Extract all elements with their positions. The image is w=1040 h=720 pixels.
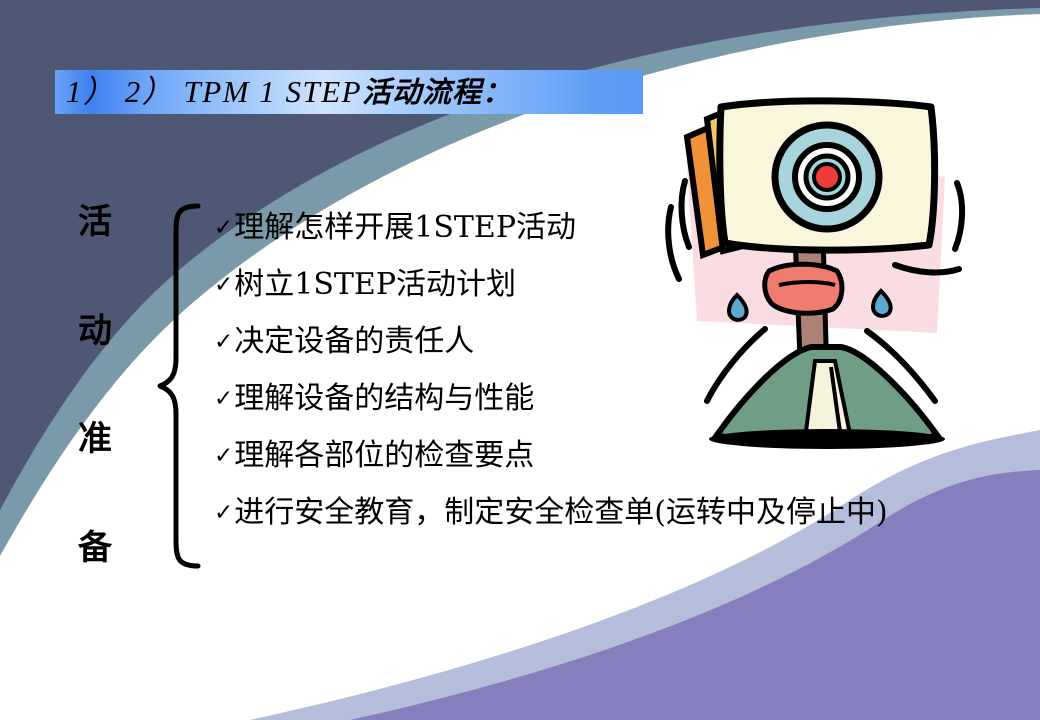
ground-shadow [709, 429, 945, 449]
section-label-vertical: 活 动 准 备 [58, 205, 132, 565]
presentation-slide: 1） 2） TPM 1 STEP活动流程： 活 动 准 备 ✓ 理解怎样开展1S… [0, 0, 1040, 720]
checkmark-icon: ✓ [214, 322, 233, 362]
slide-title: 1） 2） TPM 1 STEP活动流程： [66, 68, 666, 116]
section-label-char-2: 动 [78, 314, 112, 348]
target-bullseye [814, 164, 840, 190]
title-cjk-part: 活动流程： [362, 75, 512, 109]
section-label-char-1: 活 [78, 205, 112, 239]
checkmark-icon: ✓ [214, 493, 233, 533]
section-label-char-3: 准 [78, 422, 112, 456]
list-item-label: 理解设备的结构与性能 [234, 379, 534, 419]
motion-mark-left-1 [682, 181, 689, 247]
title-latin-part: 1） 2） [66, 74, 184, 109]
section-label-char-4: 备 [78, 531, 112, 565]
brace-path [160, 206, 198, 566]
list-item: ✓ 进行安全教育，制定安全检查单(运转中及停止中) [214, 493, 914, 533]
list-item-label: 进行安全教育，制定安全检查单(运转中及停止中) [234, 493, 894, 533]
motion-mark-right-1 [955, 183, 962, 249]
checkmark-icon: ✓ [214, 265, 233, 305]
person-hand [765, 264, 842, 313]
checkmark-icon: ✓ [214, 208, 233, 248]
checkmark-icon: ✓ [214, 379, 233, 419]
list-item-label: 树立1STEP活动计划 [234, 265, 516, 305]
title-tpm-part: TPM 1 STEP [184, 74, 363, 109]
curly-brace [152, 200, 212, 572]
checkmark-icon: ✓ [214, 436, 233, 476]
list-item-label: 决定设备的责任人 [234, 322, 474, 362]
list-item-label: 理解各部位的检查要点 [234, 436, 534, 476]
list-item-label: 理解怎样开展1STEP活动 [234, 208, 576, 248]
motion-mark-left-2 [668, 207, 679, 279]
person-holding-target-sign-illustration [645, 95, 1005, 495]
